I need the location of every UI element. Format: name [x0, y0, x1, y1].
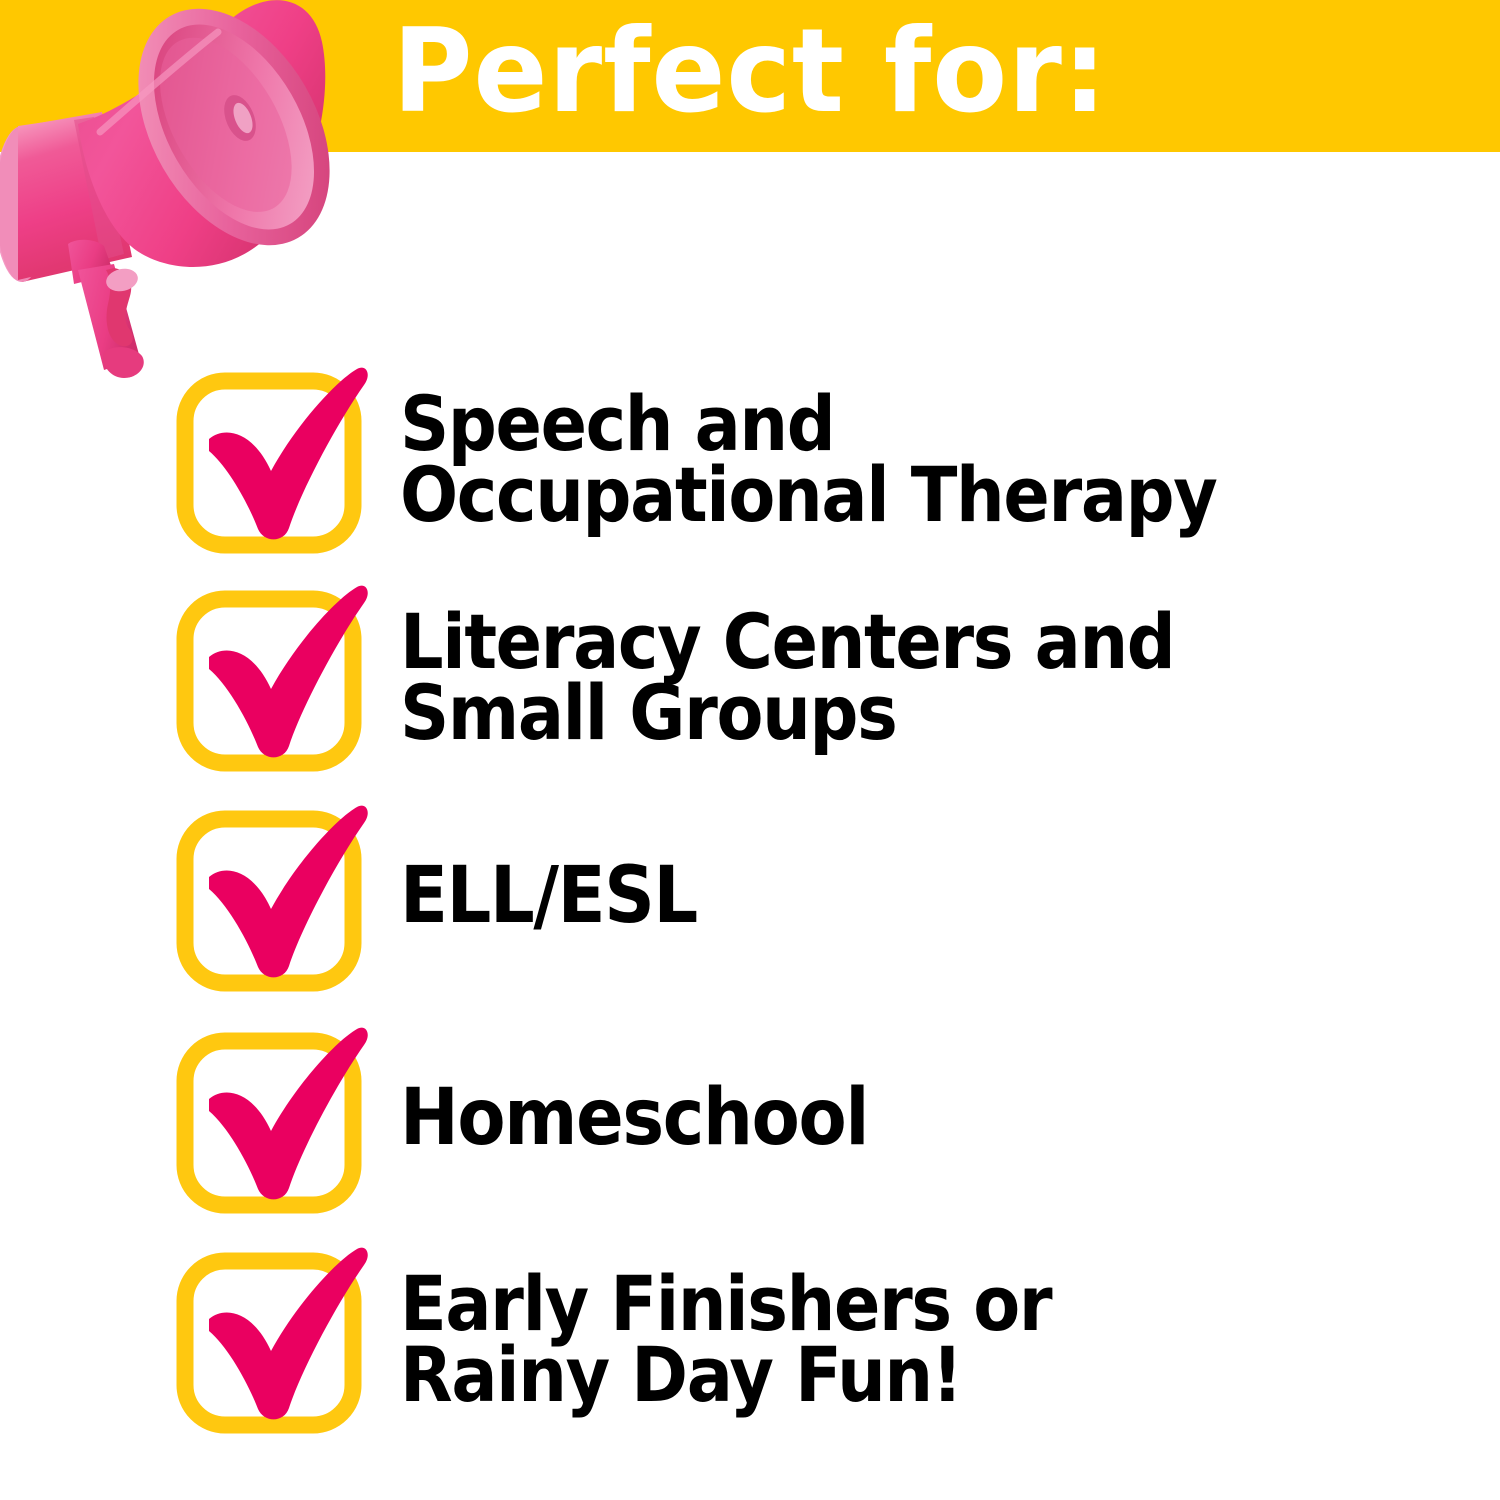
checklist: Speech and Occupational Therapy Literacy… [0, 350, 1500, 1448]
checkbox-checked-icon[interactable] [176, 1243, 368, 1435]
checkbox-checked-icon[interactable] [176, 801, 368, 993]
checkbox-checked-icon[interactable] [176, 1023, 368, 1215]
list-item[interactable]: Speech and Occupational Therapy [0, 350, 1400, 568]
list-item-label: Homeschool [400, 1082, 868, 1155]
list-item-label: Early Finishers or Rainy Day Fun! [400, 1268, 1051, 1411]
checkbox-checked-icon[interactable] [176, 363, 368, 555]
list-item[interactable]: Literacy Centers and Small Groups [0, 568, 1400, 786]
checkbox-checked-icon[interactable] [176, 581, 368, 773]
list-item[interactable]: ELL/ESL [0, 786, 1400, 1008]
list-item[interactable]: Early Finishers or Rainy Day Fun! [0, 1230, 1400, 1448]
list-item[interactable]: Homeschool [0, 1008, 1400, 1230]
page-title: Perfect for: [45, 0, 1455, 152]
list-item-label: Literacy Centers and Small Groups [400, 606, 1174, 749]
poster-canvas: Perfect for: [0, 0, 1500, 1500]
list-item-label: Speech and Occupational Therapy [400, 388, 1216, 531]
list-item-label: ELL/ESL [400, 860, 697, 933]
header-banner: Perfect for: [0, 0, 1500, 152]
